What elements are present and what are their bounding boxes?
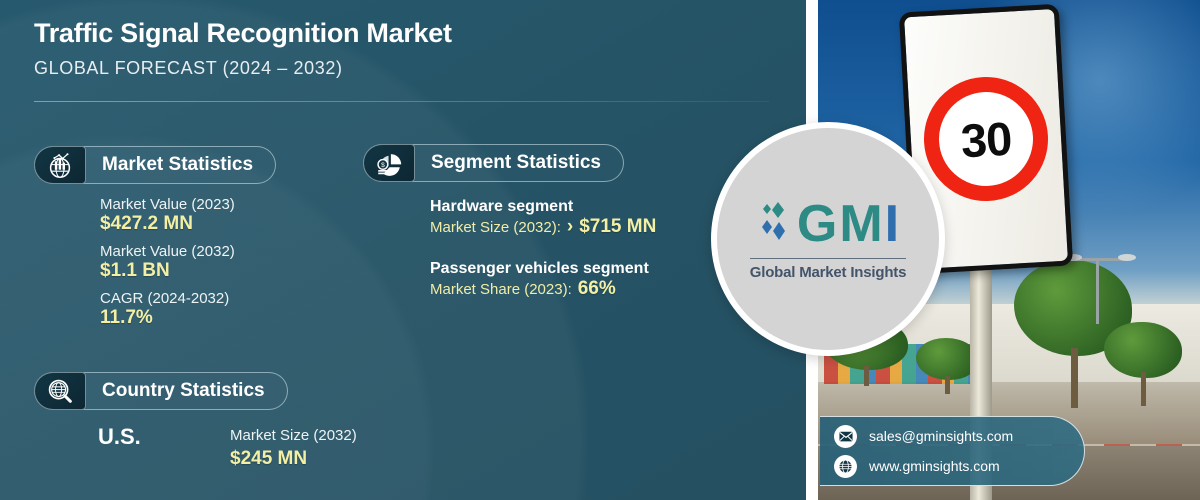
country-market-size-value: $245 MN [230,448,357,470]
section-title-country-statistics: Country Statistics [86,380,287,402]
infographic-root: Traffic Signal Recognition Market GLOBAL… [0,0,1200,500]
hardware-segment-title: Hardware segment [430,198,656,216]
tree-mid [916,338,978,392]
left-panel: Traffic Signal Recognition Market GLOBAL… [0,0,810,500]
gmi-logo-badge: G M I Global Market Insights [711,122,945,356]
passenger-vehicles-segment-value: 66% [578,278,616,300]
section-title-segment-statistics: Segment Statistics [415,152,623,174]
header-divider [34,101,769,102]
logo-letter-i: I [885,198,897,250]
hardware-segment-prefix-icon: › [567,216,573,238]
gmi-logo-mark: G M I [759,198,897,250]
passenger-vehicles-segment-label: Market Share (2023): [430,281,572,298]
market-value-2023-value: $427.2 MN [100,213,235,235]
gmi-diamond-icon [759,198,793,250]
envelope-icon [834,425,857,448]
contact-website: www.gminsights.com [869,458,1000,474]
tree-right [1104,322,1182,392]
contact-email: sales@gminsights.com [869,428,1013,444]
street-lamp-pole [1096,258,1099,324]
market-value-2032-value: $1.1 BN [100,260,235,282]
globe-magnifier-icon [34,372,86,410]
cagr-value: 11.7% [100,307,235,329]
market-value-2032-label: Market Value (2032) [100,243,235,260]
section-heading-market-statistics: Market Statistics [34,146,276,184]
segment-statistics-list: Hardware segment Market Size (2032): › $… [430,198,656,300]
page-title: Traffic Signal Recognition Market [34,18,452,49]
contact-bar: sales@gminsights.com www.gminsights.com [820,416,1085,486]
street-lamp-head-right [1118,254,1136,261]
contact-website-row[interactable]: www.gminsights.com [834,455,1084,478]
market-value-2023-label: Market Value (2023) [100,196,235,213]
hardware-segment-value: $715 MN [579,216,656,238]
speed-limit-number: 30 [959,110,1012,168]
market-statistics-list: Market Value (2023) $427.2 MN Market Val… [100,196,235,329]
svg-text:$: $ [381,162,385,169]
hardware-segment-label: Market Size (2032): [430,219,561,236]
pie-chart-money-icon: $ [363,144,415,182]
section-heading-country-statistics: Country Statistics [34,372,288,410]
section-title-market-statistics: Market Statistics [86,154,275,176]
segment-spacer [430,238,656,260]
country-name: U.S. [98,424,141,450]
cagr-label: CAGR (2024-2032) [100,290,235,307]
passenger-vehicles-segment-title: Passenger vehicles segment [430,260,656,278]
passenger-vehicles-segment-row: Market Share (2023): 66% [430,278,656,300]
logo-letter-g: G [797,198,835,250]
hardware-segment-row: Market Size (2032): › $715 MN [430,216,656,238]
globe-icon [834,455,857,478]
globe-bar-chart-icon [34,146,86,184]
country-statistics-values: Market Size (2032) $245 MN [230,427,357,470]
logo-letter-m: M [839,198,880,250]
contact-email-row[interactable]: sales@gminsights.com [834,425,1084,448]
country-market-size-label: Market Size (2032) [230,427,357,444]
logo-tagline: Global Market Insights [750,258,906,281]
section-heading-segment-statistics: $ Segment Statistics [363,144,624,182]
speed-limit-ring: 30 [921,74,1052,205]
page-subtitle: GLOBAL FORECAST (2024 – 2032) [34,58,343,79]
